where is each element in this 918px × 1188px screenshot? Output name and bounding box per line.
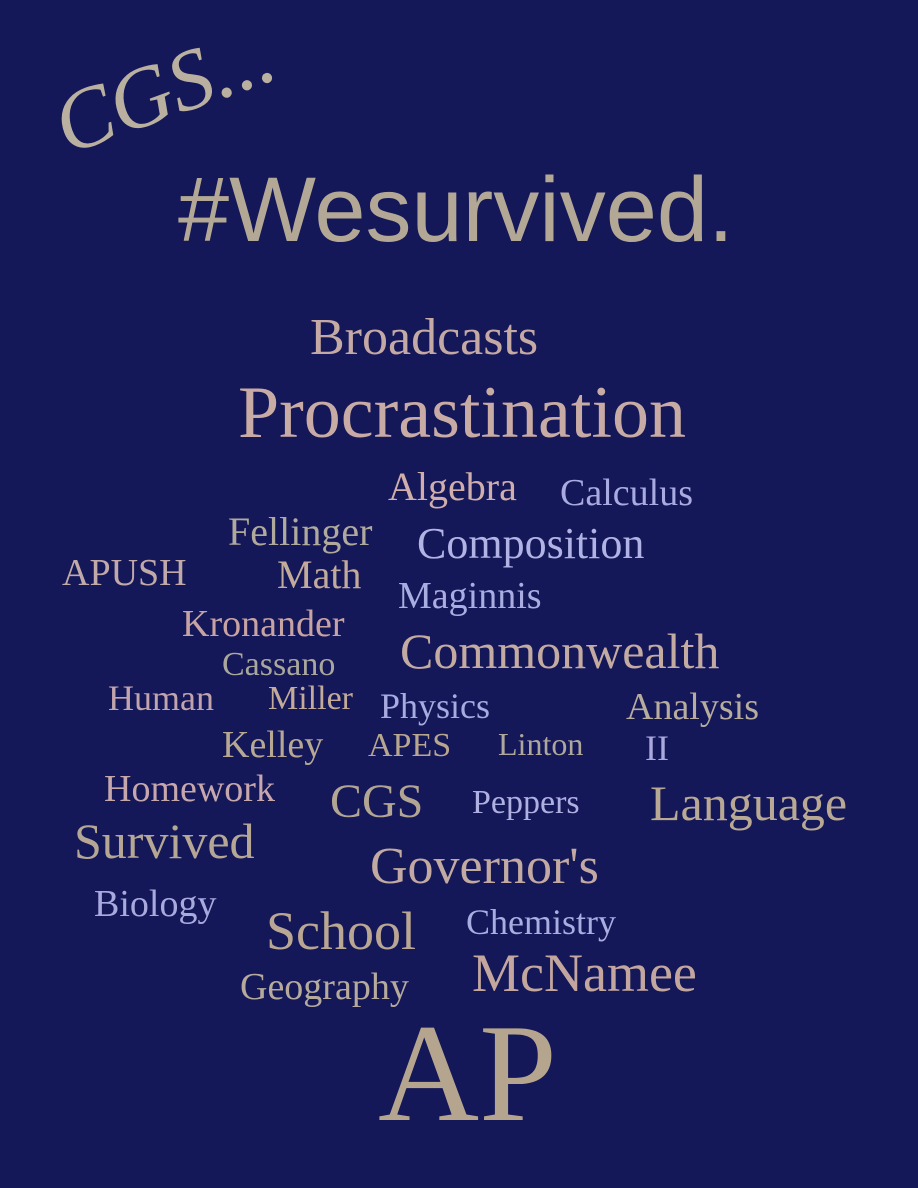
cloud-word-ii: II [645, 730, 669, 766]
cloud-word-math: Math [277, 555, 361, 595]
cloud-word-wesurvived: #Wesurvived. [178, 164, 734, 256]
cloud-word-ap: AP [378, 1004, 557, 1144]
cloud-word-chemistry: Chemistry [466, 904, 616, 940]
cloud-word-kelley: Kelley [222, 726, 323, 764]
word-cloud-canvas: CGS...#Wesurvived.BroadcastsProcrastinat… [0, 0, 918, 1188]
cloud-word-cgs: CGS [330, 778, 423, 826]
cloud-word-miller: Miller [268, 682, 353, 716]
cloud-word-maginnis: Maginnis [398, 577, 542, 615]
cloud-word-human: Human [108, 680, 214, 716]
cloud-word-physics: Physics [380, 688, 490, 724]
cloud-word-survived: Survived [74, 816, 255, 866]
cloud-word-commonwealth: Commonwealth [400, 626, 719, 676]
cloud-word-governor-s: Governor's [370, 841, 599, 893]
cloud-word-composition: Composition [417, 522, 644, 566]
cloud-word-analysis: Analysis [626, 688, 759, 726]
cloud-word-calculus: Calculus [560, 474, 693, 512]
cloud-word-school: School [266, 904, 416, 958]
cloud-word-procrastination: Procrastination [238, 376, 686, 450]
cloud-word-biology: Biology [94, 885, 216, 923]
cloud-word-cassano: Cassano [222, 648, 335, 682]
cloud-word-language: Language [650, 778, 847, 828]
cloud-word-homework: Homework [104, 770, 275, 808]
cloud-word-apes: APES [368, 729, 451, 763]
cloud-word-apush: APUSH [62, 554, 187, 592]
cloud-word-algebra: Algebra [388, 467, 517, 507]
cloud-word-mcnamee: McNamee [472, 946, 697, 1000]
cloud-word-linton: Linton [498, 728, 583, 760]
cloud-word-cgs: CGS... [43, 10, 286, 168]
cloud-word-peppers: Peppers [472, 786, 580, 820]
cloud-word-fellinger: Fellinger [228, 512, 372, 552]
cloud-word-broadcasts: Broadcasts [310, 312, 538, 364]
cloud-word-kronander: Kronander [182, 605, 344, 643]
